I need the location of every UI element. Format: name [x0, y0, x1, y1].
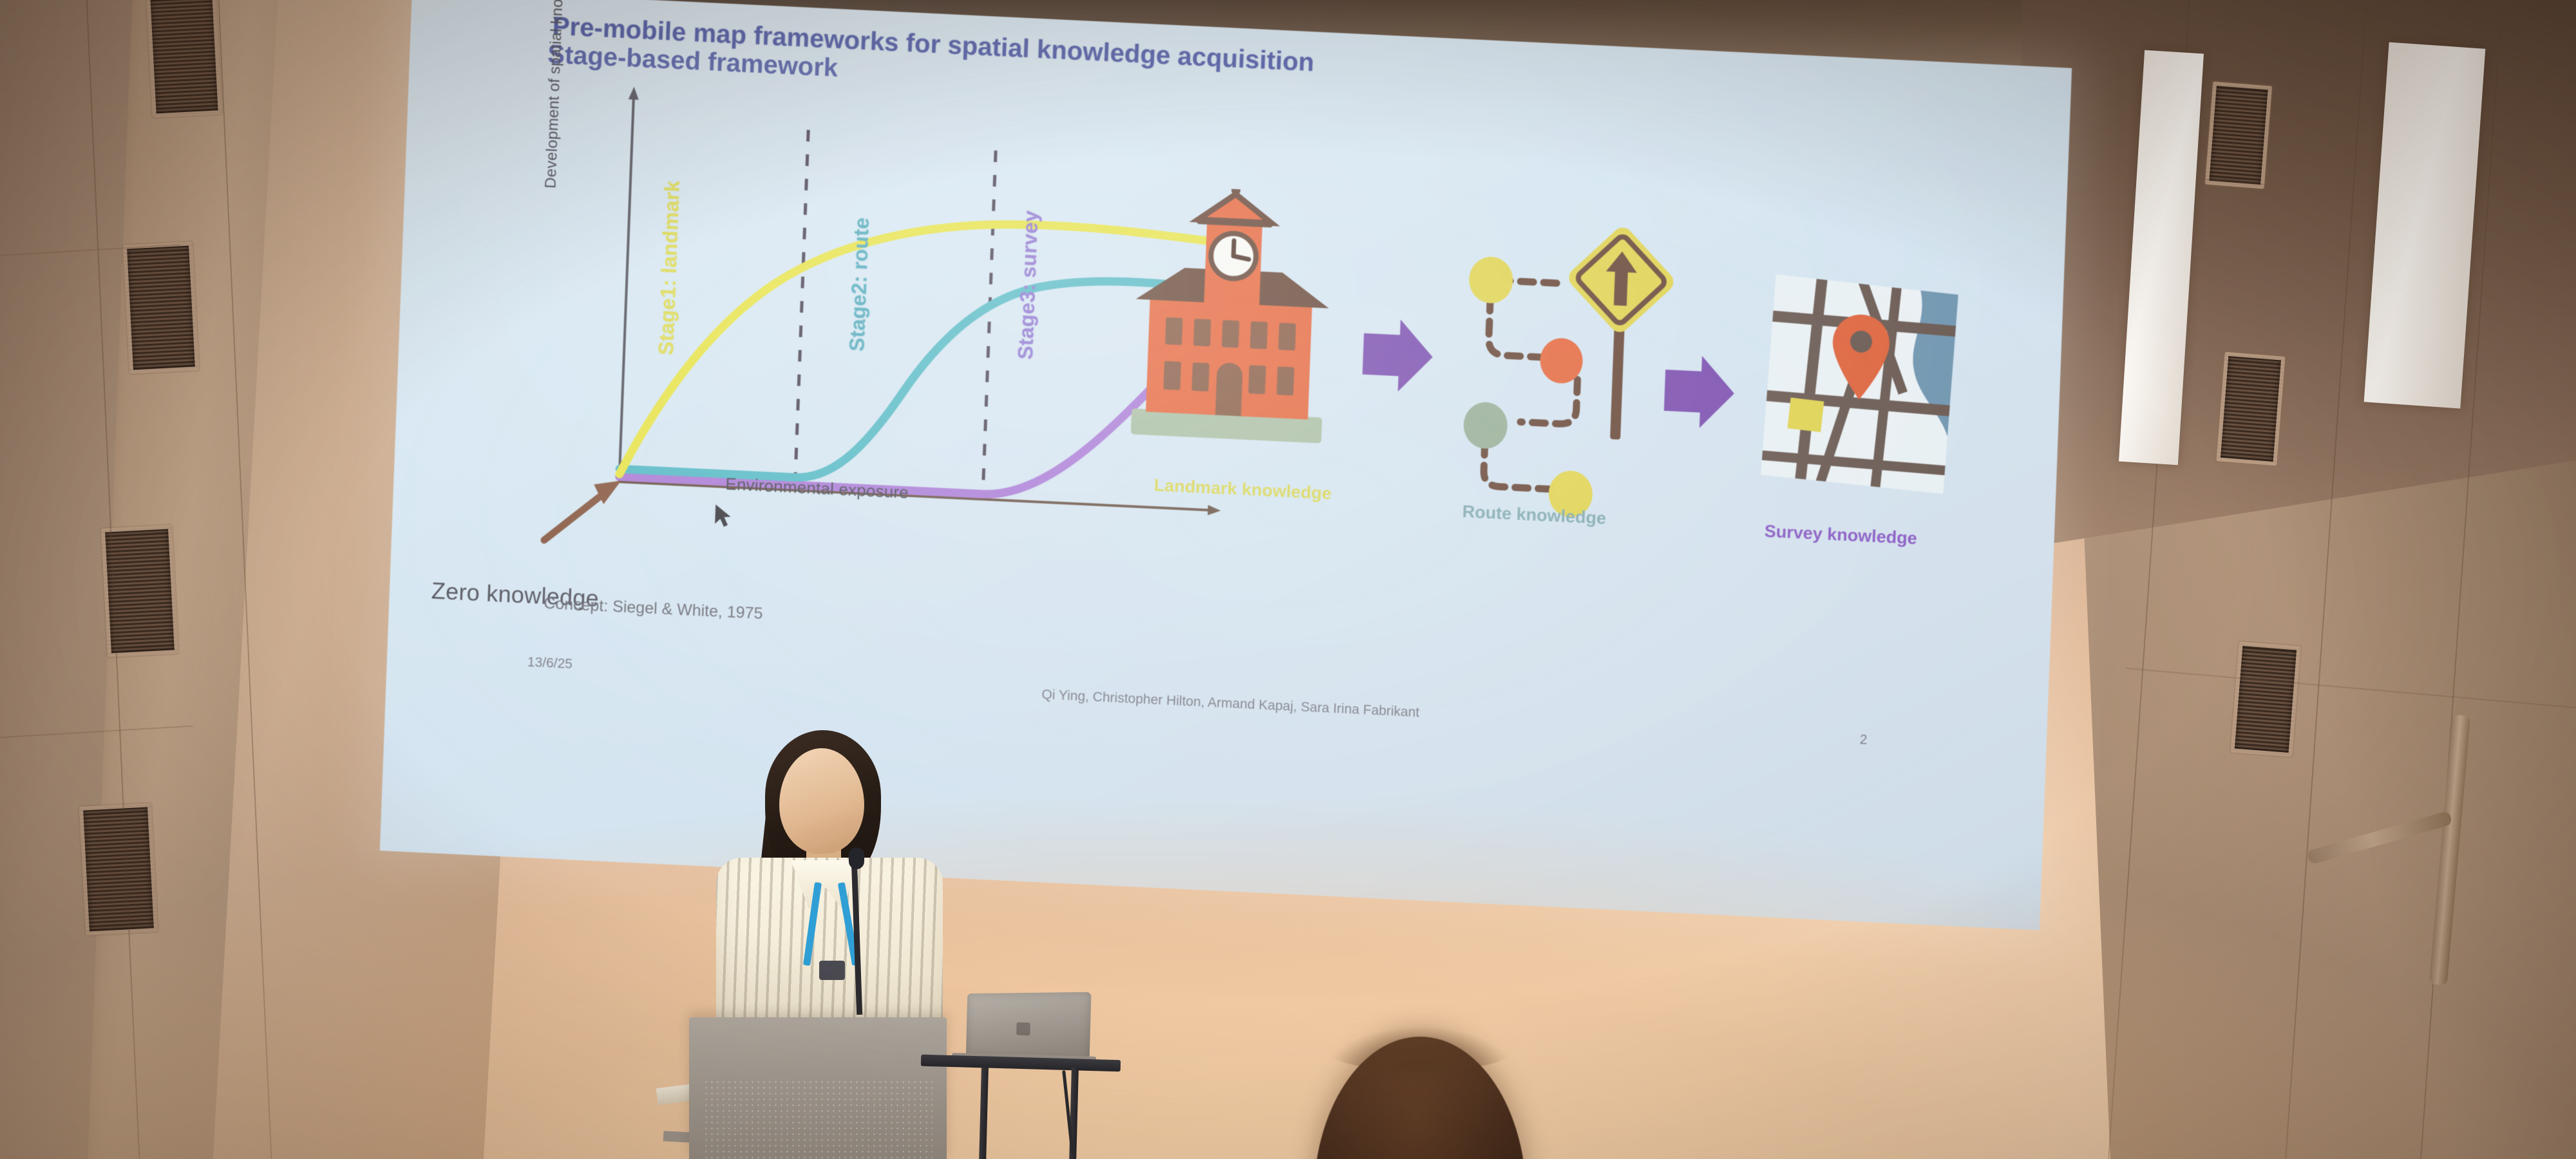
projection-screen: Pre-mobile map frameworks for spatial kn… [380, 0, 2072, 930]
badge [819, 961, 845, 980]
lectern [689, 1017, 947, 1159]
laptop-side-table [921, 1011, 1121, 1159]
presenter-head [779, 748, 864, 854]
slide-footer-authors: Qi Ying, Christopher Hilton, Armand Kapa… [1041, 687, 1419, 721]
route-node-waypoint [1463, 401, 1508, 449]
stage-label-route: Stage2: route [845, 217, 874, 352]
y-axis-arrowhead [629, 86, 639, 100]
photo-scene: Pre-mobile map frameworks for spatial kn… [0, 0, 2576, 1159]
concept-citation: Concept: Siegel & White, 1975 [544, 594, 763, 623]
dashed-route-with-road-sign-icon [1461, 216, 1680, 522]
wall-vent-icon [79, 803, 158, 936]
wall-vent-icon [2216, 352, 2285, 466]
wall-vent-icon [123, 241, 199, 373]
clock-tower-building-icon [1131, 184, 1333, 444]
laptop-logo [1016, 1022, 1030, 1036]
microphone-icon [849, 847, 864, 869]
slide-footer-date: 13/6/25 [527, 655, 573, 672]
arrow-landmark-to-route-icon [1362, 318, 1434, 393]
knowledge-progression-icons [1104, 184, 1979, 560]
table-leg [979, 1068, 989, 1159]
right-ceiling-panel [2022, 0, 2576, 548]
audience-member-head [1314, 1037, 1526, 1159]
stage-divider-2 [983, 151, 996, 496]
arrow-route-to-survey-icon [1663, 354, 1736, 429]
y-axis [619, 95, 634, 482]
wall-vent-icon [2205, 82, 2272, 189]
zero-knowledge-arrow-icon [544, 477, 621, 543]
slide-page-number: 2 [1859, 732, 1868, 748]
wall-vent-icon [2230, 641, 2300, 757]
street-map-with-pin-icon [1757, 265, 1971, 509]
route-node-start [1468, 256, 1514, 304]
slide-surface: Pre-mobile map frameworks for spatial kn… [380, 0, 2072, 930]
wall-vent-icon [146, 0, 222, 118]
mouse-cursor-icon [715, 504, 731, 527]
map-block [1788, 397, 1824, 432]
stage-divider-1 [795, 130, 808, 487]
